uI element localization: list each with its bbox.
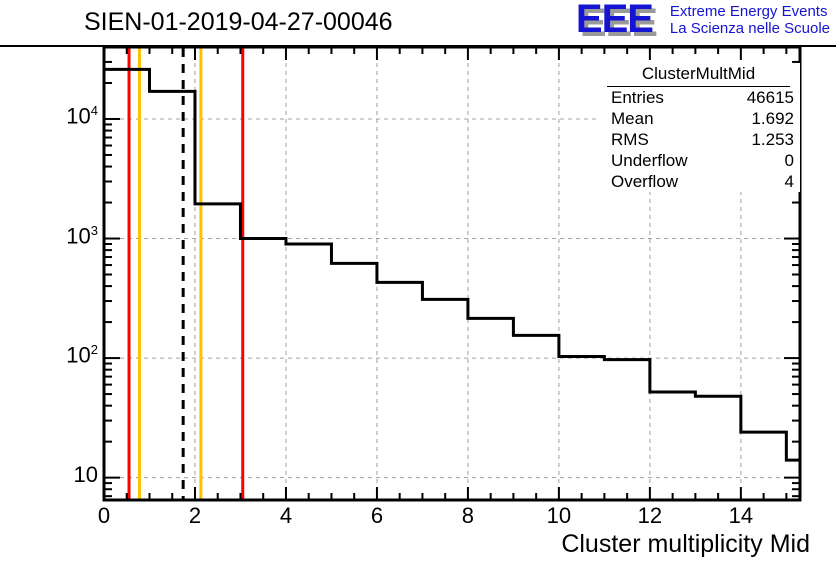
x-axis-tick-label: 14 — [711, 503, 771, 529]
x-axis-tick-label: 8 — [438, 503, 498, 529]
y-axis-tick-label: 102 — [66, 342, 98, 368]
y-axis-tick-label: 103 — [66, 223, 98, 249]
x-axis-title: Cluster multiplicity Mid — [561, 530, 810, 559]
stats-row: Entries46615 — [597, 87, 800, 108]
x-axis-tick-label: 12 — [620, 503, 680, 529]
y-axis-tick-label: 10 — [74, 462, 98, 488]
stats-row-key: Entries — [611, 87, 664, 108]
page-title: SIEN-01-2019-04-27-00046 — [84, 8, 393, 37]
eee-logo-line1: Extreme Energy Events — [670, 3, 830, 20]
eee-logo-mark-front: EEE — [576, 2, 653, 36]
stats-row: Underflow0 — [597, 150, 800, 171]
eee-logo: EEE EEE Extreme Energy Events La Scienza… — [576, 2, 830, 38]
stats-row-key: Overflow — [611, 171, 678, 192]
stats-row-key: RMS — [611, 129, 649, 150]
stats-row-value: 46615 — [747, 87, 794, 108]
x-axis-tick-label: 0 — [74, 503, 134, 529]
marker-lines-layer — [129, 48, 243, 500]
x-axis-tick-label: 10 — [529, 503, 589, 529]
stats-box-rows: Entries46615Mean1.692RMS1.253Underflow0O… — [597, 87, 800, 192]
stats-row-value: 1.692 — [751, 108, 794, 129]
stats-row-value: 0 — [785, 150, 794, 171]
stats-row: RMS1.253 — [597, 129, 800, 150]
stats-row: Mean1.692 — [597, 108, 800, 129]
x-axis-tick-label: 2 — [165, 503, 225, 529]
stats-row-key: Mean — [611, 108, 654, 129]
eee-logo-text: Extreme Energy Events La Scienza nelle S… — [670, 2, 830, 37]
x-axis-tick-label: 4 — [256, 503, 316, 529]
stats-row-value: 4 — [785, 171, 794, 192]
stats-row-key: Underflow — [611, 150, 688, 171]
eee-logo-mark: EEE EEE — [576, 2, 662, 38]
stats-row: Overflow4 — [597, 171, 800, 192]
stats-row-value: 1.253 — [751, 129, 794, 150]
stats-box-title: ClusterMultMid — [607, 63, 790, 87]
stats-box: ClusterMultMid Entries46615Mean1.692RMS1… — [597, 63, 800, 192]
x-axis-tick-label: 6 — [347, 503, 407, 529]
eee-logo-line2: La Scienza nelle Scuole — [670, 20, 830, 37]
y-axis-tick-label: 104 — [66, 103, 98, 129]
